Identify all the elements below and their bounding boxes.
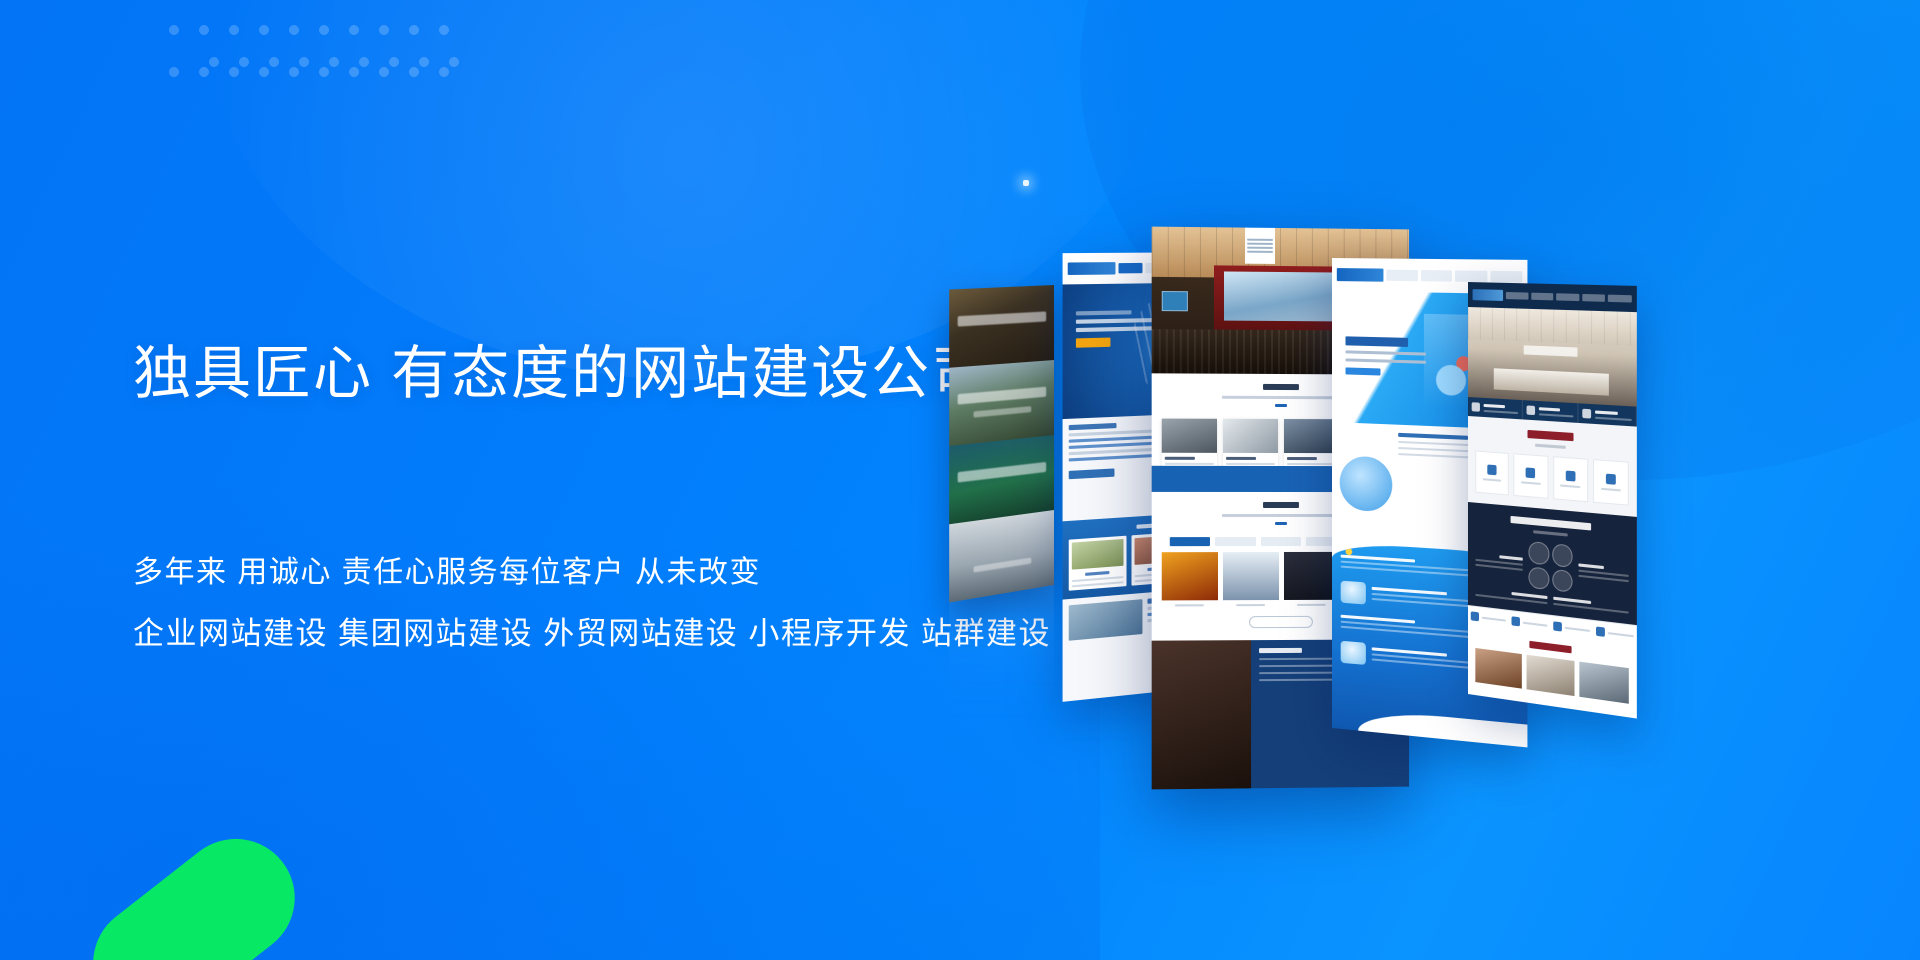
mockup-tab[interactable] [1215,537,1255,546]
mockup-cta-button[interactable] [1076,337,1110,347]
mockup-tab[interactable] [1170,537,1211,546]
mockup-logo [1473,289,1504,300]
feature-icon [1341,580,1366,604]
auditorium-side-display [1162,291,1187,311]
mockup-logo [1068,262,1116,276]
mockup-nav-item[interactable] [1455,270,1487,282]
mockup-case-photo[interactable] [1475,648,1522,689]
strip-icon [1511,617,1519,627]
service-icon [1526,468,1535,479]
mockup-design-section [1468,416,1637,517]
dot-grid-pattern-row1 [168,24,458,84]
screen-design-interior-site[interactable] [1468,282,1637,719]
mockup-case-photo[interactable] [1579,662,1628,704]
mockup-nav-item[interactable] [1506,292,1528,300]
highlight-icon [1583,409,1592,419]
mockup-service-box[interactable] [1553,457,1588,503]
mockup-reason-section [1468,502,1637,625]
mockup-service-box[interactable] [1593,459,1629,506]
photo-aerial-night [949,285,1054,368]
mockup-service-box[interactable] [1475,451,1509,496]
service-icon [1565,471,1575,482]
strip-icon [1471,612,1479,622]
mockup-product-card[interactable] [1069,536,1126,591]
mockup-nav-item[interactable] [1387,269,1418,281]
mockup-nav-item[interactable] [1490,271,1522,283]
hero-banner: 独具匠心 有态度的网站建设公司 多年来 用诚心 责任心服务每位客户 从未改变 企… [0,0,1920,960]
mockup-dropdown-menu[interactable] [1245,228,1275,264]
mockup-cta-button[interactable] [1345,367,1380,375]
mockup-gallery-item[interactable] [1223,552,1279,606]
mockup-nav-item[interactable] [1608,295,1632,303]
feature-circle-icon [1340,456,1393,513]
highlight-icon [1472,403,1480,413]
strip-icon [1553,622,1562,632]
mockup-gallery-item[interactable] [1162,552,1218,606]
highlight-icon [1526,406,1535,416]
mockup-service-box[interactable] [1514,454,1548,500]
mockup-case-photo[interactable] [1527,655,1575,696]
auditorium-projection-screen [1224,271,1337,321]
screen-aerial-photo-stack[interactable] [949,285,1054,602]
reason-quad-icon [1528,541,1572,593]
mockup-nav-item[interactable] [1582,294,1605,302]
service-icon [1487,465,1496,476]
feature-icon [1341,641,1366,665]
photo-dome [949,510,1054,602]
mockup-news-photo [1069,599,1143,641]
mockup-gallery-item[interactable] [1283,551,1338,605]
strip-icon [1596,627,1605,637]
mockup-nav-item[interactable] [1119,263,1143,274]
photo-hill-track [949,360,1054,446]
mockup-nav-item[interactable] [1531,293,1553,301]
mockup-tab[interactable] [1261,537,1301,546]
mockup-nav-item[interactable] [1556,293,1579,301]
service-icon [1606,474,1616,485]
photo-stadium [949,435,1054,524]
mockup-hero-lobby-photo [1468,307,1637,407]
mockup-nav-item[interactable] [1421,270,1452,282]
website-mockups-showcase [930,0,1920,960]
mockup-footer-photo [1152,640,1251,790]
mockup-logo [1337,268,1384,282]
dot-grid-pattern-row2 [208,56,468,82]
green-capsule-shape [69,815,318,960]
mockup-load-more-button[interactable] [1249,615,1313,627]
